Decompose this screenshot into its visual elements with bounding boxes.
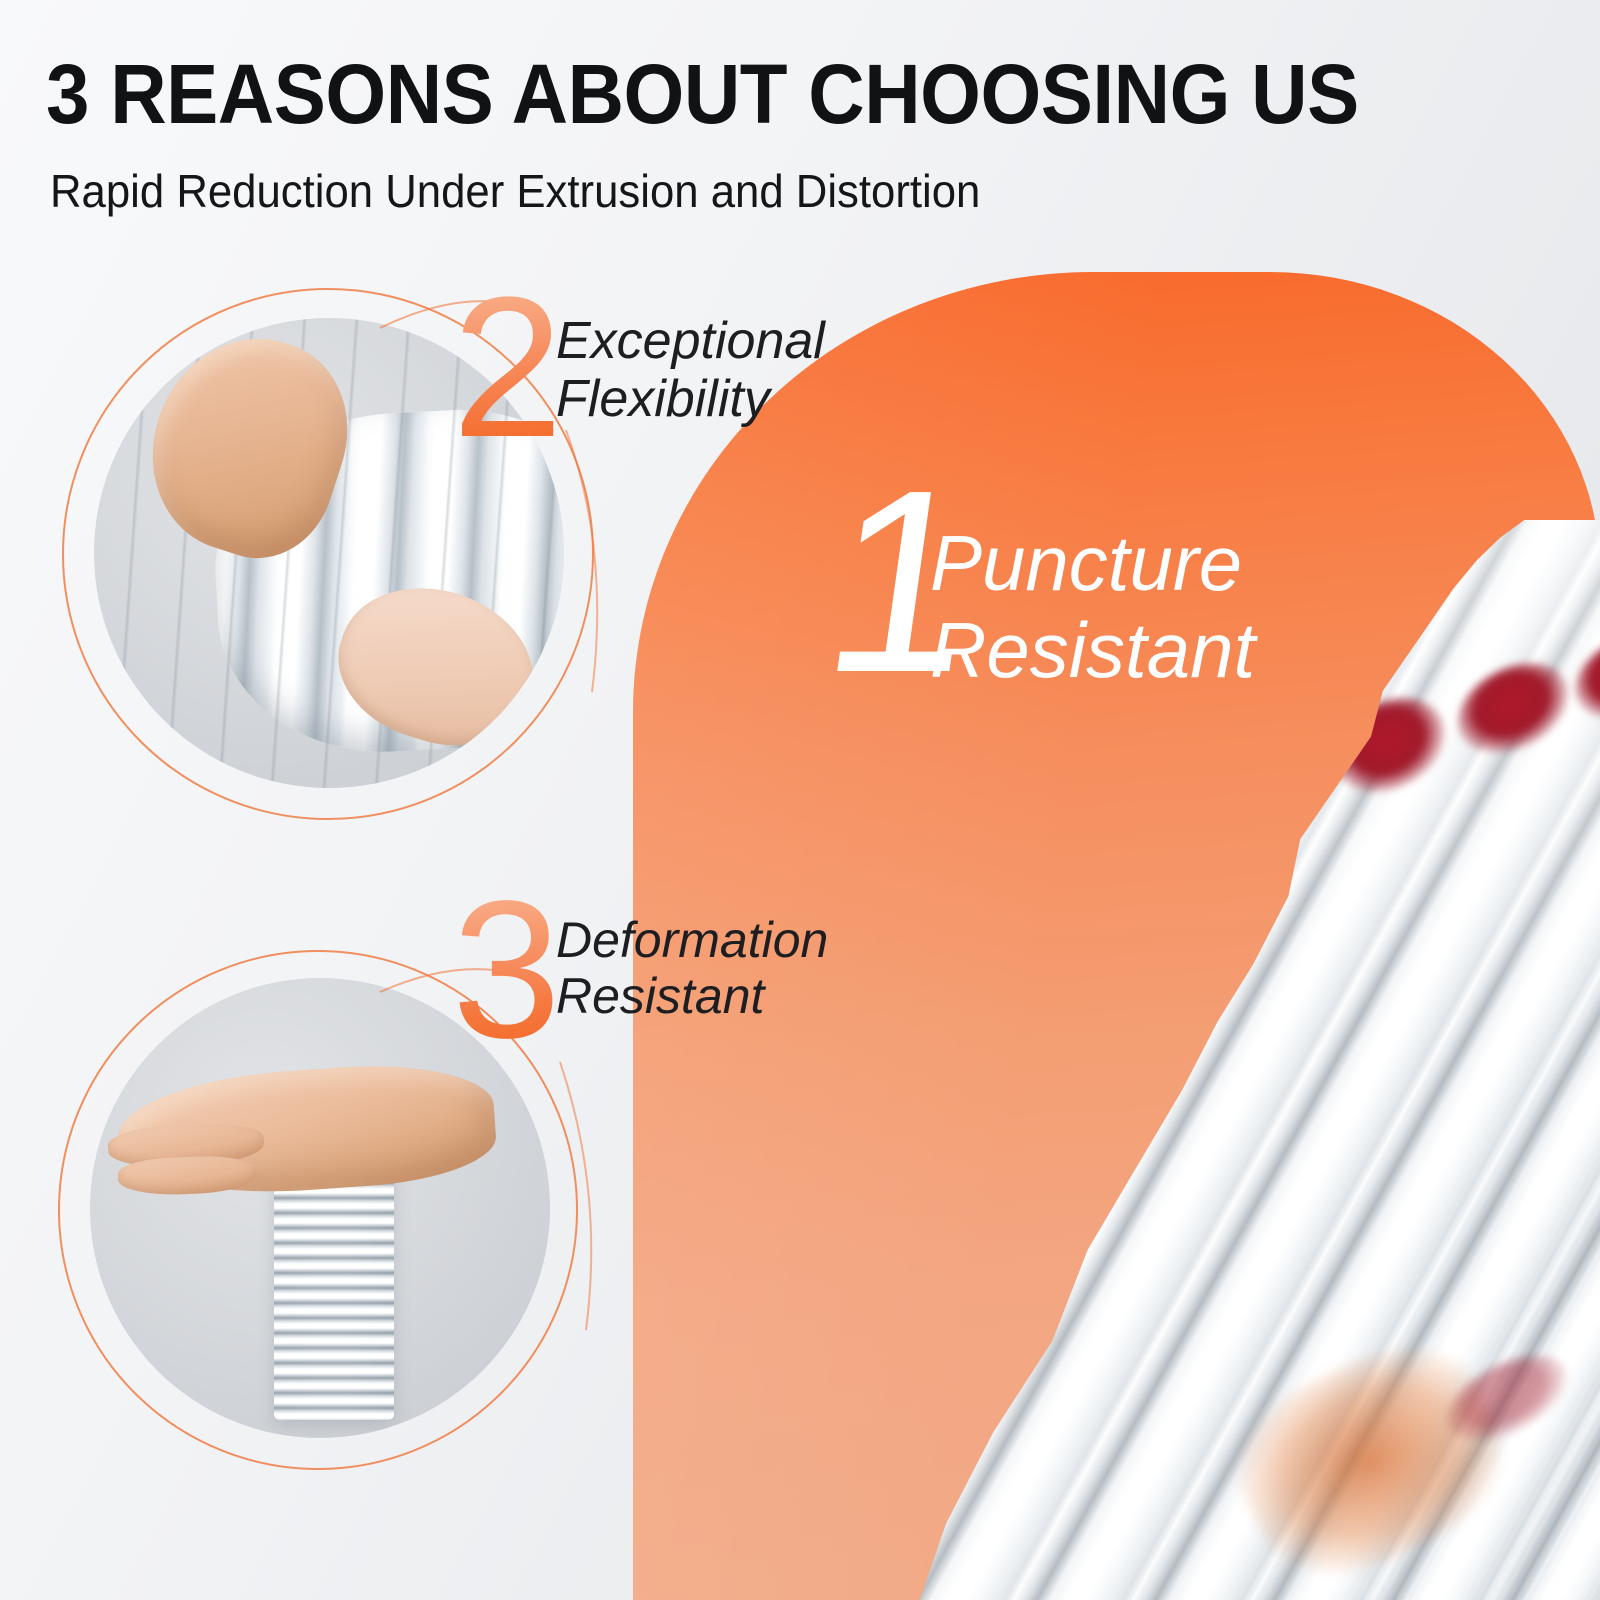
feature-2-number: 2 [452,268,563,468]
feature-3-label-line1: Deformation [556,912,828,968]
feature-3-number: 3 [452,872,561,1068]
feature-2-label-line1: Exceptional [556,312,825,370]
feature-1-label-line2: Resistant [930,607,1255,694]
feature-2-label: Exceptional Flexibility [556,312,825,428]
feature-1-label: Puncture Resistant [930,520,1255,695]
feature-3-label: Deformation Resistant [556,912,828,1024]
feature-1-label-line1: Puncture [930,520,1255,607]
feature-3-label-line2: Resistant [556,968,828,1024]
leader-lines [0,0,1600,1600]
feature-2-label-line2: Flexibility [556,370,825,428]
product-feature-banner: 3 REASONS ABOUT CHOOSING US Rapid Reduct… [0,0,1600,1600]
